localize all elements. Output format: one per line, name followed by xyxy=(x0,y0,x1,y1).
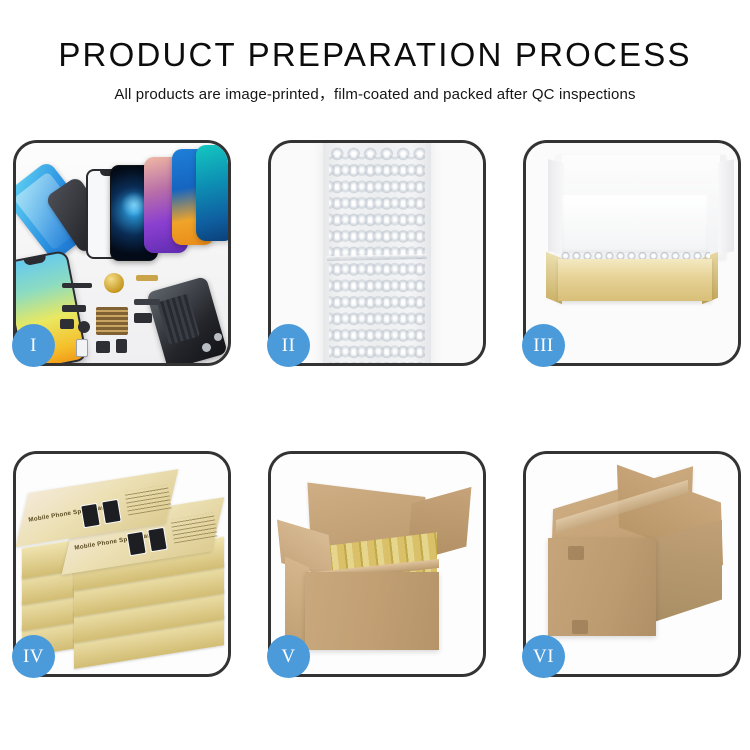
step-panel-2: II xyxy=(268,140,486,366)
round-part-icon xyxy=(78,321,90,333)
step-panel-1: I xyxy=(13,140,231,366)
screw-icon-1 xyxy=(202,343,211,352)
step-panel-5: V xyxy=(268,451,486,677)
cable-icon xyxy=(134,299,160,305)
small-part-icon-4 xyxy=(96,341,110,353)
gold-connector-icon xyxy=(136,275,158,281)
foam-sheet-icon xyxy=(562,195,708,253)
small-part-icon-5 xyxy=(116,339,127,353)
steps-grid: I II III xyxy=(13,140,741,677)
product-preparation-infographic: PRODUCT PREPARATION PROCESS All products… xyxy=(0,0,750,750)
small-part-icon-3 xyxy=(134,313,152,323)
step-badge-1: I xyxy=(12,324,55,367)
opened-phone-back-icon xyxy=(146,276,228,363)
page-title: PRODUCT PREPARATION PROCESS xyxy=(0,0,750,72)
step-badge-4: IV xyxy=(12,635,55,678)
speaker-part-icon xyxy=(104,273,124,293)
sealed-carton-front-face xyxy=(548,538,656,636)
carton-handle-notch-top xyxy=(568,546,584,560)
step-panel-4: Mobile Phone Spare Parts Mobile Phone Sp… xyxy=(13,451,231,677)
kraft-box-front xyxy=(558,259,712,301)
step-badge-2: II xyxy=(267,324,310,367)
step-badge-6: VI xyxy=(522,635,565,678)
step-panel-3: III xyxy=(523,140,741,366)
small-part-icon-1 xyxy=(62,305,86,312)
step-panel-6: VI xyxy=(523,451,741,677)
small-part-icon-2 xyxy=(60,319,74,329)
page-subtitle: All products are image-printed，film-coat… xyxy=(0,72,750,104)
step-badge-5: V xyxy=(267,635,310,678)
step-badge-3: III xyxy=(522,324,565,367)
carton-front-face xyxy=(305,572,439,650)
bubble-wrap-icon xyxy=(323,143,431,363)
flex-strip-icon xyxy=(62,283,92,288)
header: PRODUCT PREPARATION PROCESS All products… xyxy=(0,0,750,104)
teal-phone-icon xyxy=(196,145,228,241)
sim-tray-icon xyxy=(76,339,88,357)
screw-icon-2 xyxy=(214,333,222,341)
chip-grid-icon xyxy=(96,307,128,335)
carton-handle-notch-bottom xyxy=(572,620,588,634)
